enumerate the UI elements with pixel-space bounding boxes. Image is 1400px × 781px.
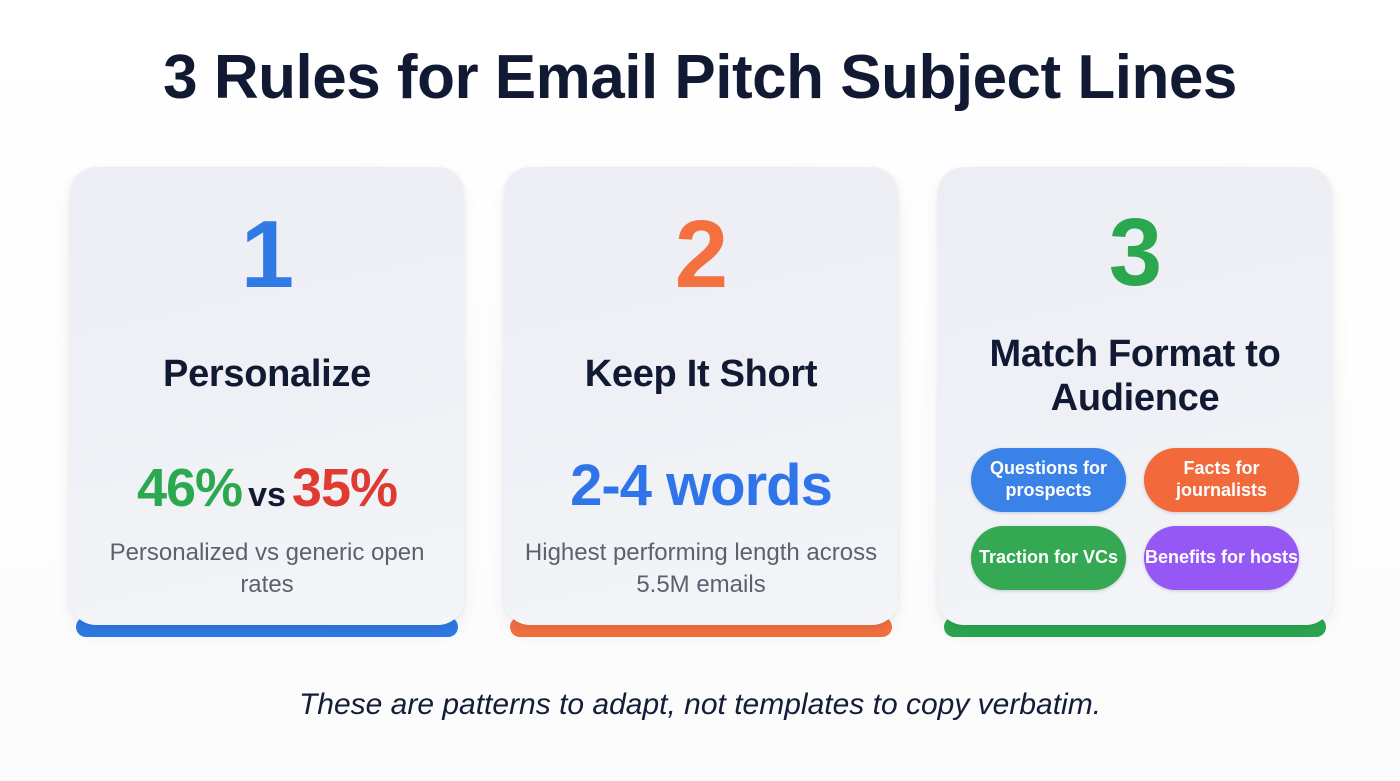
card-stat-2: 2-4 words xyxy=(570,457,832,515)
audience-pill-facts-journalists: Facts for journalists xyxy=(1144,448,1299,512)
card-caption-1: Personalized vs generic open rates xyxy=(90,537,444,602)
card-number-1: 1 xyxy=(241,207,293,303)
stat-value-a: 46% xyxy=(137,458,242,518)
card-heading-3: Match Format to Audience xyxy=(958,333,1312,420)
audience-pill-grid: Questions for prospects Facts for journa… xyxy=(965,448,1305,590)
stat-value: 2-4 words xyxy=(570,453,832,518)
rule-card-1: 1 Personalize 46%vs35% Personalized vs g… xyxy=(70,167,464,637)
audience-pill-questions-prospects: Questions for prospects xyxy=(971,448,1126,512)
rule-card-3: 3 Match Format to Audience Questions for… xyxy=(938,167,1332,637)
infographic-page: 3 Rules for Email Pitch Subject Lines 1 … xyxy=(0,0,1400,781)
footer-note: These are patterns to adapt, not templat… xyxy=(0,688,1400,722)
rule-card-2-body: 2 Keep It Short 2-4 words Highest perfor… xyxy=(504,167,898,625)
audience-pill-benefits-hosts: Benefits for hosts xyxy=(1144,526,1299,590)
card-heading-2: Keep It Short xyxy=(585,353,818,397)
rules-card-row: 1 Personalize 46%vs35% Personalized vs g… xyxy=(70,167,1332,637)
card-number-3: 3 xyxy=(1109,205,1161,301)
rule-card-3-body: 3 Match Format to Audience Questions for… xyxy=(938,167,1332,625)
card-caption-2: Highest performing length across 5.5M em… xyxy=(524,537,878,602)
stat-value-b: 35% xyxy=(292,458,397,518)
stat-separator: vs xyxy=(242,476,292,514)
rule-card-2: 2 Keep It Short 2-4 words Highest perfor… xyxy=(504,167,898,637)
card-number-2: 2 xyxy=(675,207,727,303)
card-stat-1: 46%vs35% xyxy=(137,461,397,515)
card-heading-1: Personalize xyxy=(163,353,371,397)
audience-pill-traction-vcs: Traction for VCs xyxy=(971,526,1126,590)
rule-card-1-body: 1 Personalize 46%vs35% Personalized vs g… xyxy=(70,167,464,625)
page-title: 3 Rules for Email Pitch Subject Lines xyxy=(0,44,1400,112)
